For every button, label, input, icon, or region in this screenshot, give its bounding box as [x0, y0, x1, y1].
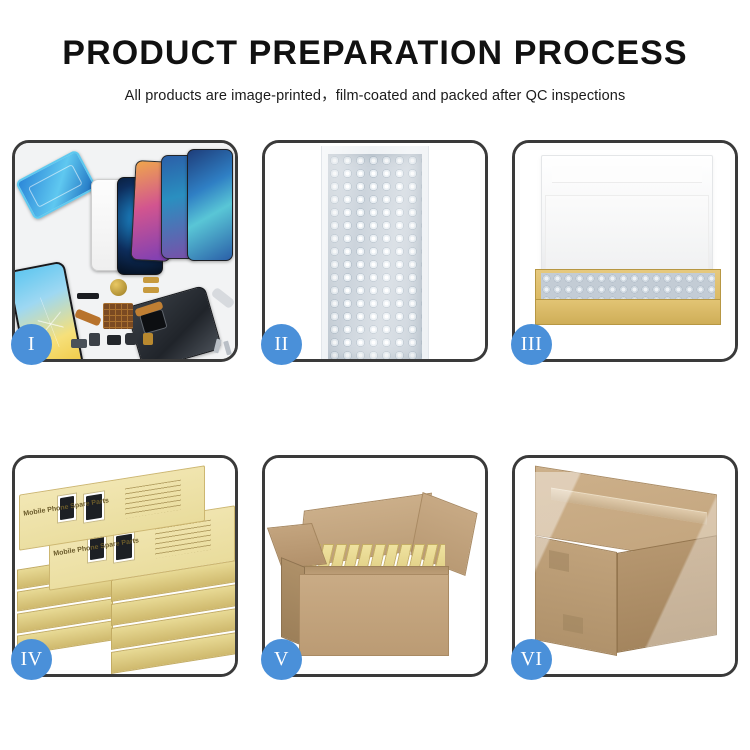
page-title: PRODUCT PREPARATION PROCESS — [0, 36, 750, 72]
carton-right-face — [617, 535, 717, 653]
phone-parts-collage-icon — [15, 143, 235, 359]
speaker-coil-icon — [110, 279, 127, 296]
step-badge-2: II — [261, 324, 302, 365]
product-preparation-infographic: PRODUCT PREPARATION PROCESS All products… — [0, 0, 750, 750]
open-carton-icon — [265, 458, 485, 674]
small-part-icon — [89, 333, 100, 346]
oca-adhesive-film-icon — [15, 149, 97, 221]
step-panel-5: V — [262, 455, 488, 677]
step-4-image: Mobile Phone Spare Parts Mobile Phone Sp… — [15, 458, 235, 674]
step-6-image — [515, 458, 735, 674]
stacked-retail-boxes-icon: Mobile Phone Spare Parts Mobile Phone Sp… — [15, 458, 235, 674]
sealed-carton-icon — [515, 458, 735, 674]
bubble-wrap-icon — [265, 143, 485, 359]
step-badge-1: I — [11, 324, 52, 365]
kraft-tray-front-icon — [535, 299, 721, 325]
bubble-wrapped-parts-icon — [541, 273, 715, 299]
flex-cable-icon — [74, 308, 101, 326]
step-2-image — [265, 143, 485, 359]
small-part-icon — [125, 333, 137, 345]
button-key-icon — [143, 277, 159, 283]
step-panel-1: I — [12, 140, 238, 362]
step-panel-3: III — [512, 140, 738, 362]
step-badge-3: III — [511, 324, 552, 365]
plastic-sheen-overlay — [322, 146, 428, 359]
small-part-icon — [107, 335, 121, 345]
screw-icon — [223, 341, 232, 356]
process-step-grid: I II — [12, 140, 738, 677]
copper-grid-component-icon — [103, 303, 133, 329]
step-badge-5: V — [261, 639, 302, 680]
foam-insert-icon — [545, 195, 709, 271]
step-badge-4: IV — [11, 639, 52, 680]
carton-body — [299, 574, 449, 656]
header: PRODUCT PREPARATION PROCESS All products… — [0, 0, 750, 105]
step-5-image — [265, 458, 485, 674]
step-panel-2: II — [262, 140, 488, 362]
button-key-icon — [143, 287, 159, 293]
open-inner-box-icon — [515, 143, 735, 359]
small-part-icon — [71, 339, 87, 348]
small-part-icon — [143, 333, 153, 345]
step-panel-4: Mobile Phone Spare Parts Mobile Phone Sp… — [12, 455, 238, 677]
striped-blue-phone-screen-icon — [187, 149, 233, 261]
small-connector-icon — [77, 293, 99, 299]
pry-tool-icon — [210, 287, 235, 310]
step-badge-6: VI — [511, 639, 552, 680]
carton-tab — [549, 550, 569, 572]
carton-left-face — [535, 536, 617, 656]
bubble-wrap-sleeve-icon — [321, 146, 429, 359]
step-1-image — [15, 143, 235, 359]
disassembled-phone-back-icon — [125, 285, 222, 359]
page-subtitle: All products are image-printed，film-coat… — [0, 84, 750, 105]
step-3-image — [515, 143, 735, 359]
step-panel-6: VI — [512, 455, 738, 677]
